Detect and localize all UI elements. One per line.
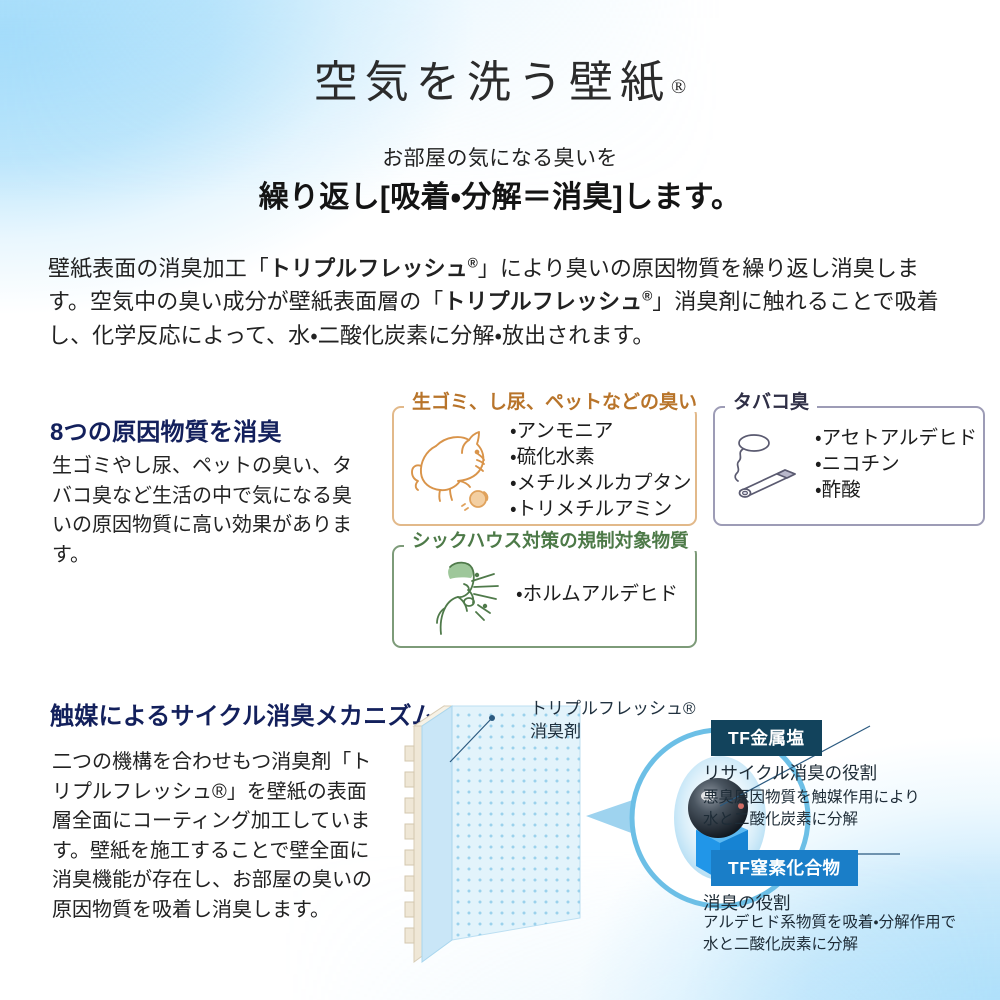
section-body-mechanism: 二つの機構を合わせもつ消臭剤「トリプルフレッシュ®」を壁紙の表面層全面にコーティ… (52, 748, 382, 926)
description-tf-nitrogen-compound: アルデヒド系物質を吸着・分解作用で 水と二酸化炭素に分解 (703, 912, 956, 956)
odor-box-household-legend: 生ゴミ、し尿、ペットなどの臭い (404, 393, 705, 412)
section-heading-mechanism: 触媒によるサイクル消臭メカニズム (50, 696, 436, 731)
intro-part-1: 壁紙表面の消臭加工「 (48, 256, 269, 281)
badge-tf-metal-salt: TF金属塩 (711, 720, 822, 756)
odor-box-tobacco-legend: タバコ臭 (725, 393, 817, 412)
registered-trademark-icon: ® (642, 289, 652, 304)
role-tf-metal-salt: リサイクル消臭の役割 (703, 760, 877, 785)
description-tf-metal-salt: 悪臭原因物質を触媒作用により 水と二酸化炭素に分解 (703, 787, 920, 831)
intro-brand-1: トリプルフレッシュ (269, 256, 468, 281)
wallpaper-surface-layer (422, 706, 580, 962)
badge-tf-nitrogen-compound: TF窒素化合物 (711, 850, 858, 886)
page-title: 空気を洗う壁紙® (0, 46, 1000, 110)
odor-box-tobacco: タバコ臭 ・アセトアルデヒド ・ニコチン ・酢酸 (713, 406, 985, 526)
intro-paragraph: 壁紙表面の消臭加工「トリプルフレッシュ®」により臭いの原因物質を繰り返し消臭しま… (48, 252, 954, 352)
cigarette-smoke-icon (723, 430, 815, 513)
coughing-person-icon (428, 557, 506, 642)
odor-box-tobacco-items: ・アセトアルデヒド ・ニコチン ・酢酸 (815, 425, 977, 503)
odor-box-sickhouse-items: ・ホルムアルデヒド (516, 581, 678, 607)
odor-box-household-items: ・アンモニア ・硫化水素 ・メチルメルカプタン ・トリメチルアミン (510, 418, 692, 523)
intro-brand-2: トリプルフレッシュ (443, 289, 642, 314)
odor-box-sickhouse: シックハウス対策の規制対象物質 (392, 545, 697, 648)
registered-trademark-icon: ® (468, 256, 478, 271)
registered-trademark-icon: ® (671, 76, 686, 98)
page-title-text: 空気を洗う壁紙 (314, 58, 671, 107)
diagram-callout-triplefresh: トリプルフレッシュ® 消臭剤 (530, 698, 696, 743)
lead-headline: 繰り返し[吸着・分解＝消臭]します。 (0, 172, 1000, 216)
odor-box-sickhouse-legend: シックハウス対策の規制対象物質 (404, 532, 697, 551)
section-body-substances: 生ゴミやし尿、ペットの臭い、タバコ臭など生活の中で気になる臭いの原因物質に高い効… (52, 452, 352, 570)
product-info-page: 空気を洗う壁紙® お部屋の気になる臭いを 繰り返し[吸着・分解＝消臭]します。 … (0, 0, 1000, 1000)
lead-subtitle: お部屋の気になる臭いを (0, 142, 1000, 172)
odor-box-household: 生ゴミ、し尿、ペットなどの臭い (392, 406, 697, 526)
cat-playing-icon (406, 426, 506, 517)
section-heading-substances: 8つの原因物質を消臭 (50, 412, 282, 447)
